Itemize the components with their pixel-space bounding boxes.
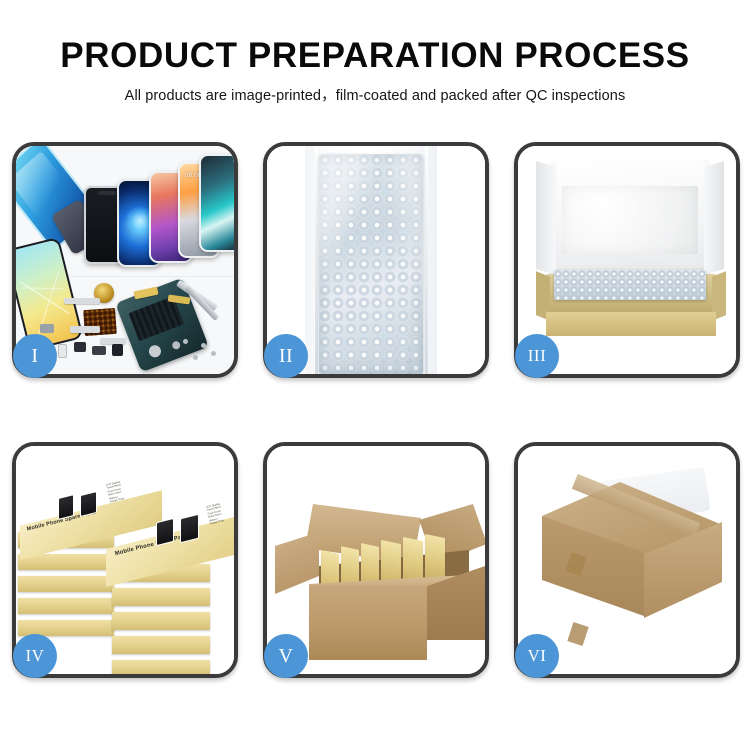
screw — [211, 351, 216, 356]
retail-box — [112, 636, 210, 654]
component-chip — [40, 324, 54, 333]
screw — [183, 339, 188, 344]
step-badge-5: V — [264, 634, 308, 678]
component-chip — [92, 346, 106, 355]
page-title: PRODUCT PREPARATION PROCESS — [0, 38, 750, 75]
bubble-wrap-surface — [319, 154, 423, 374]
bubble-wrapped-contents — [554, 270, 706, 300]
step-badge-3: III — [515, 334, 559, 378]
page-subtitle: All products are image-printed，film-coat… — [0, 84, 750, 105]
flex-ribbon-cable — [70, 326, 100, 333]
box-product-photo — [80, 491, 97, 517]
retail-box — [112, 612, 210, 630]
step-panel-4[interactable]: Mobile Phone Spare Parts LCD Display Tou… — [12, 442, 238, 678]
step-panel-2[interactable]: II — [263, 142, 489, 378]
retail-box — [112, 588, 210, 606]
component-chip — [58, 344, 67, 358]
step-panel-3[interactable]: III — [514, 142, 740, 378]
step-panel-5[interactable]: V — [263, 442, 489, 678]
box-product-photo — [156, 518, 174, 546]
component-chip — [74, 342, 86, 352]
wrap-seam-right — [425, 146, 428, 374]
step-badge-4: IV — [13, 634, 57, 678]
retail-box — [18, 576, 114, 592]
wrap-seam-left — [315, 146, 318, 374]
step-panel-6[interactable]: VI — [514, 442, 740, 678]
step-badge-2: II — [264, 334, 308, 378]
box-product-photo — [180, 514, 199, 544]
phone-teal — [199, 154, 234, 252]
box-product-photo — [58, 494, 74, 520]
steps-grid: 08:08 — [12, 142, 740, 678]
step-badge-6: VI — [515, 634, 559, 678]
carton-front-panel — [309, 586, 427, 660]
foam-liner — [562, 186, 698, 254]
step-panel-1[interactable]: 08:08 — [12, 142, 238, 378]
retail-box — [112, 660, 210, 674]
screw — [193, 355, 198, 360]
retail-box — [18, 598, 114, 614]
step-badge-1: I — [13, 334, 57, 378]
screw — [201, 343, 206, 348]
flex-ribbon-cable — [64, 298, 100, 304]
kraft-box-front-panel — [546, 312, 716, 336]
header: PRODUCT PREPARATION PROCESS All products… — [0, 0, 750, 105]
product-preparation-infographic: PRODUCT PREPARATION PROCESS All products… — [0, 0, 750, 750]
packed-retail-box — [425, 534, 445, 582]
component-chip — [112, 344, 123, 356]
